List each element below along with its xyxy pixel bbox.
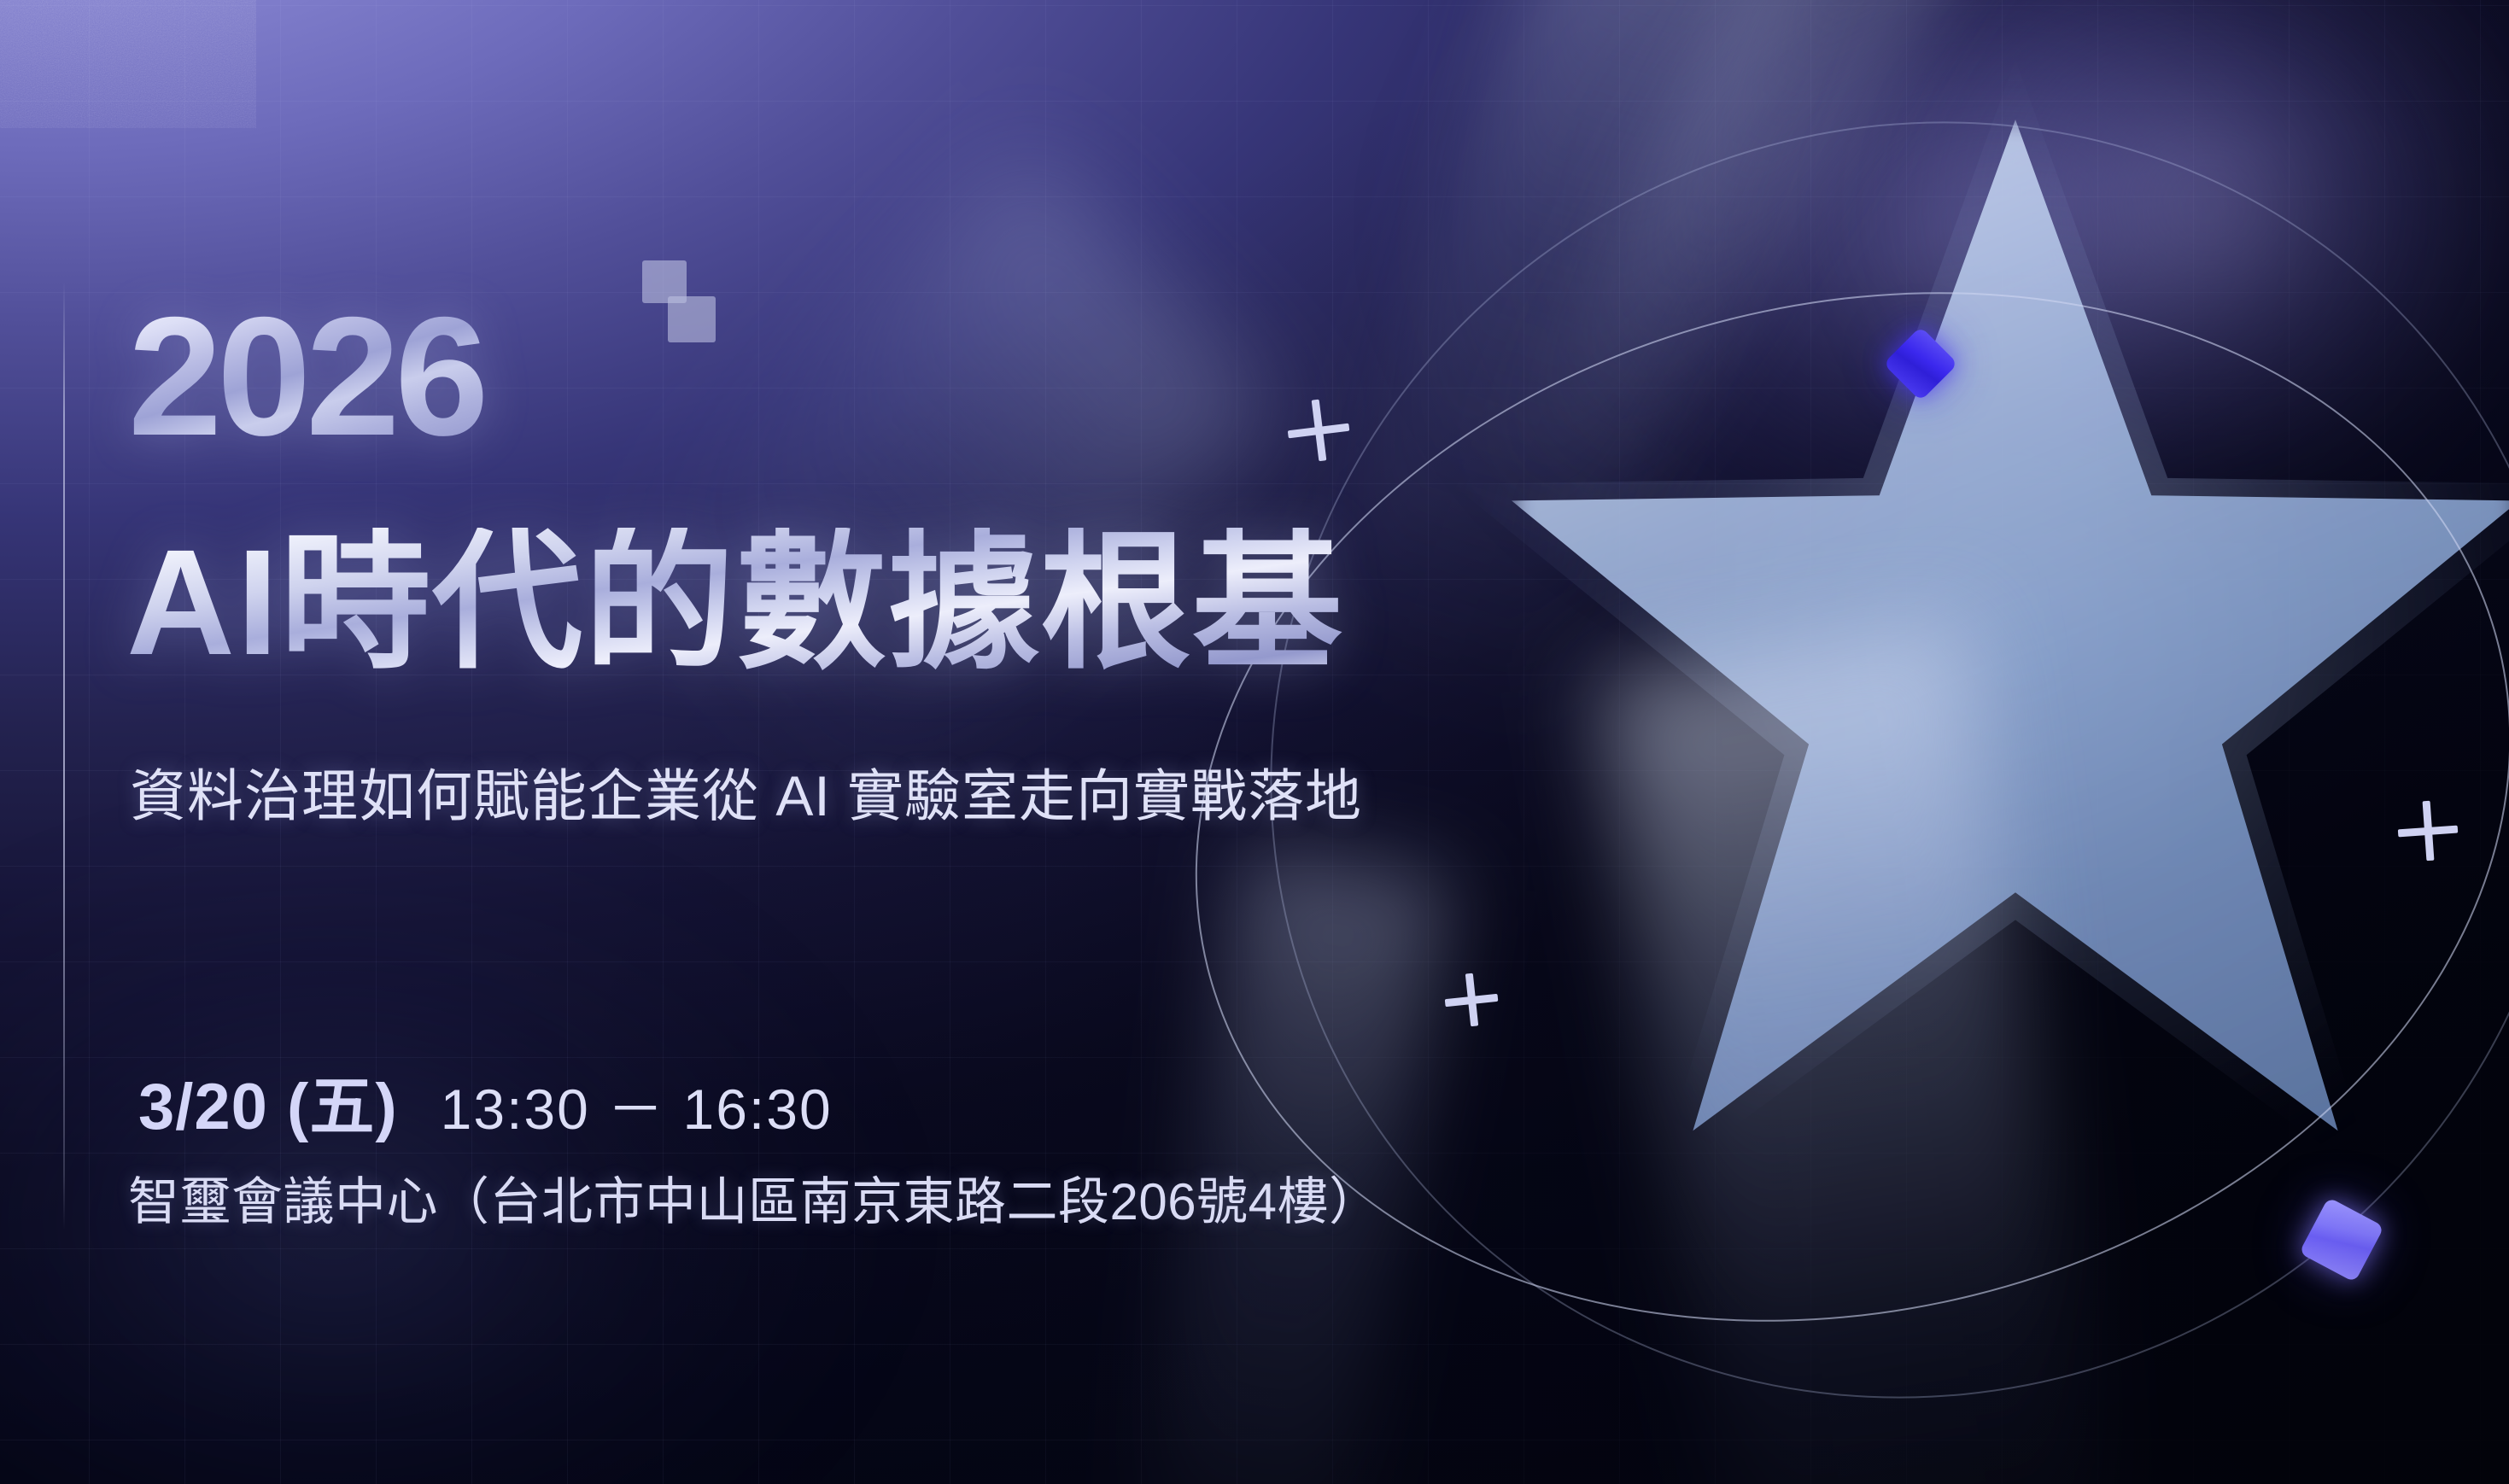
- event-venue: 智璽會議中心（台北市中山區南京東路二段206號4樓）: [128, 1171, 1380, 1233]
- page-subtitle: 資料治理如何賦能企業從 AI 實驗室走向實戰落地: [130, 765, 1362, 827]
- event-year: 2026: [128, 292, 483, 461]
- event-date-badge: 3/20 (五): [126, 1072, 410, 1148]
- event-poster: 2026 AI時代的數據根基 資料治理如何賦能企業從 AI 實驗室走向實戰落地 …: [0, 0, 2509, 1484]
- page-title: AI時代的數據根基: [126, 528, 1344, 678]
- poster-content: 2026 AI時代的數據根基 資料治理如何賦能企業從 AI 實驗室走向實戰落地 …: [0, 0, 2509, 1484]
- event-datetime: 3/20 (五) 13:30 － 16:30: [126, 1072, 833, 1148]
- event-time: 13:30 － 16:30: [441, 1081, 833, 1137]
